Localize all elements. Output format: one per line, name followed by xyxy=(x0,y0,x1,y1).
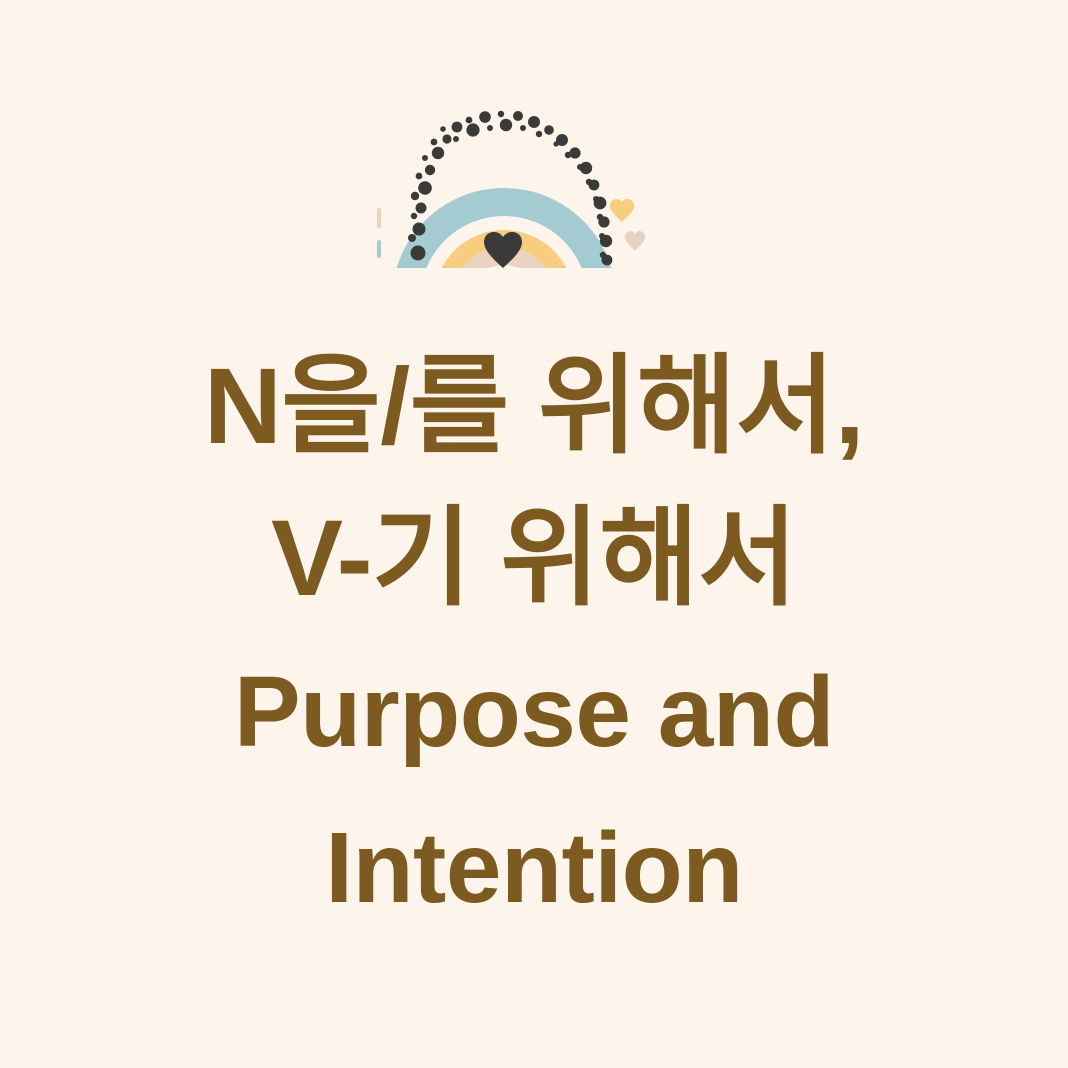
title-english-line-2: Intention xyxy=(0,790,1068,946)
title-block: N을/를 위해서, V-기 위해서 Purpose and Intention xyxy=(0,330,1068,946)
heart-blush-small-icon xyxy=(625,231,645,251)
title-korean-line-1: N을/를 위해서, xyxy=(0,330,1068,482)
heart-yellow-small-icon xyxy=(610,199,634,222)
grey-band-arc xyxy=(477,273,531,300)
title-english-line-1: Purpose and xyxy=(0,634,1068,790)
title-korean-line-2: V-기 위해서 xyxy=(0,482,1068,634)
rainbow-svg xyxy=(0,0,1068,300)
slide-canvas: N을/를 위해서, V-기 위해서 Purpose and Intention xyxy=(0,0,1068,1068)
tick-blue-left xyxy=(377,240,381,258)
rainbow-illustration xyxy=(0,0,1068,300)
tick-blush-left xyxy=(377,208,381,228)
